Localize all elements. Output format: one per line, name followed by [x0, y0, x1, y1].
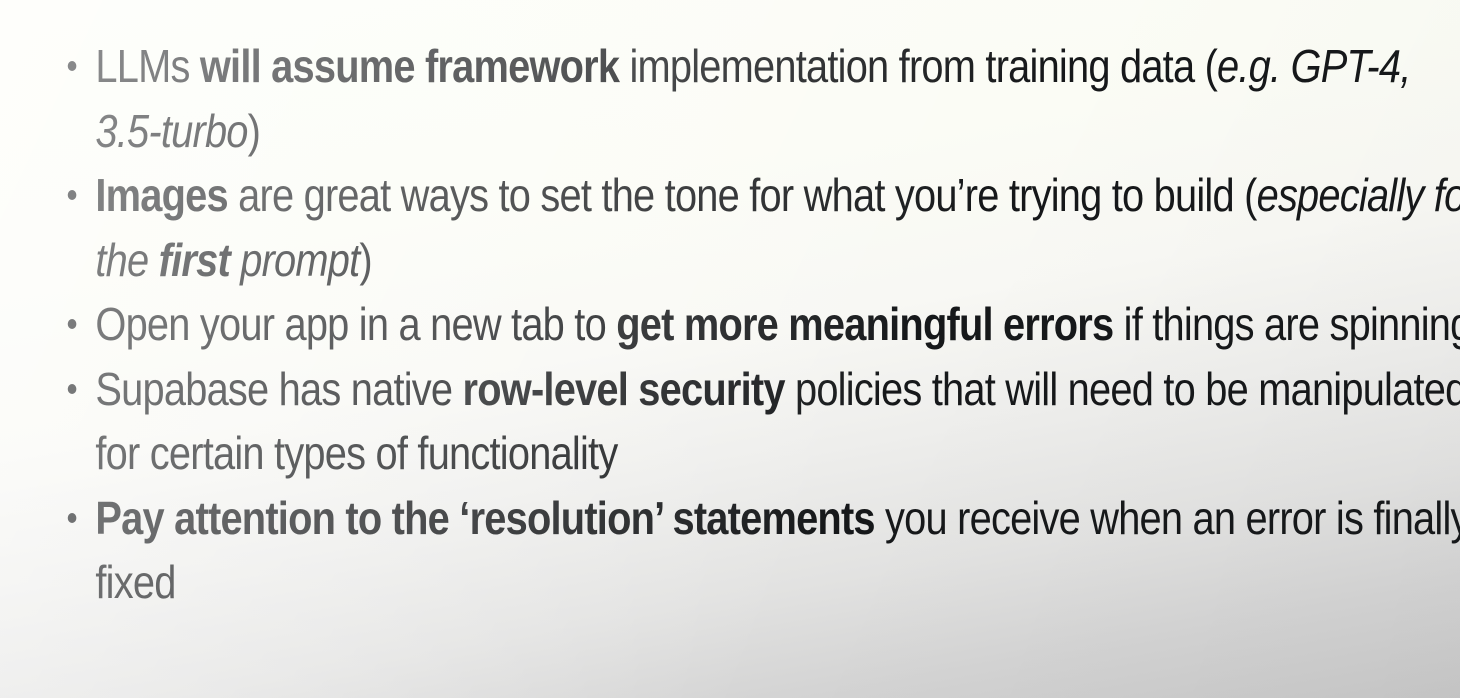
bullet-item-4: Supabase has native row-level security p… — [66, 357, 1460, 486]
bullet-item-3: Open your app in a new tab to get more m… — [66, 292, 1460, 357]
bullet-point-icon — [68, 384, 77, 394]
bullet-text-4: Supabase has native row-level security p… — [95, 363, 1460, 480]
bullet-point-icon — [68, 61, 77, 71]
bullet-text-1: LLMs will assume framework implementatio… — [95, 40, 1410, 157]
bullet-text-5: Pay attention to the ‘resolution’ statem… — [95, 492, 1460, 609]
bullet-point-icon — [68, 190, 77, 200]
bullet-text-3: Open your app in a new tab to get more m… — [95, 298, 1460, 350]
bullet-point-icon — [68, 513, 77, 523]
bullet-list: LLMs will assume framework implementatio… — [0, 0, 1460, 615]
bullet-point-icon — [68, 319, 77, 329]
bullet-text-2: Images are great ways to set the tone fo… — [95, 169, 1460, 286]
bullet-item-5: Pay attention to the ‘resolution’ statem… — [66, 486, 1460, 615]
bullet-item-2: Images are great ways to set the tone fo… — [66, 163, 1460, 292]
bullet-item-1: LLMs will assume framework implementatio… — [66, 34, 1460, 163]
slide-canvas: LLMs will assume framework implementatio… — [0, 0, 1460, 698]
